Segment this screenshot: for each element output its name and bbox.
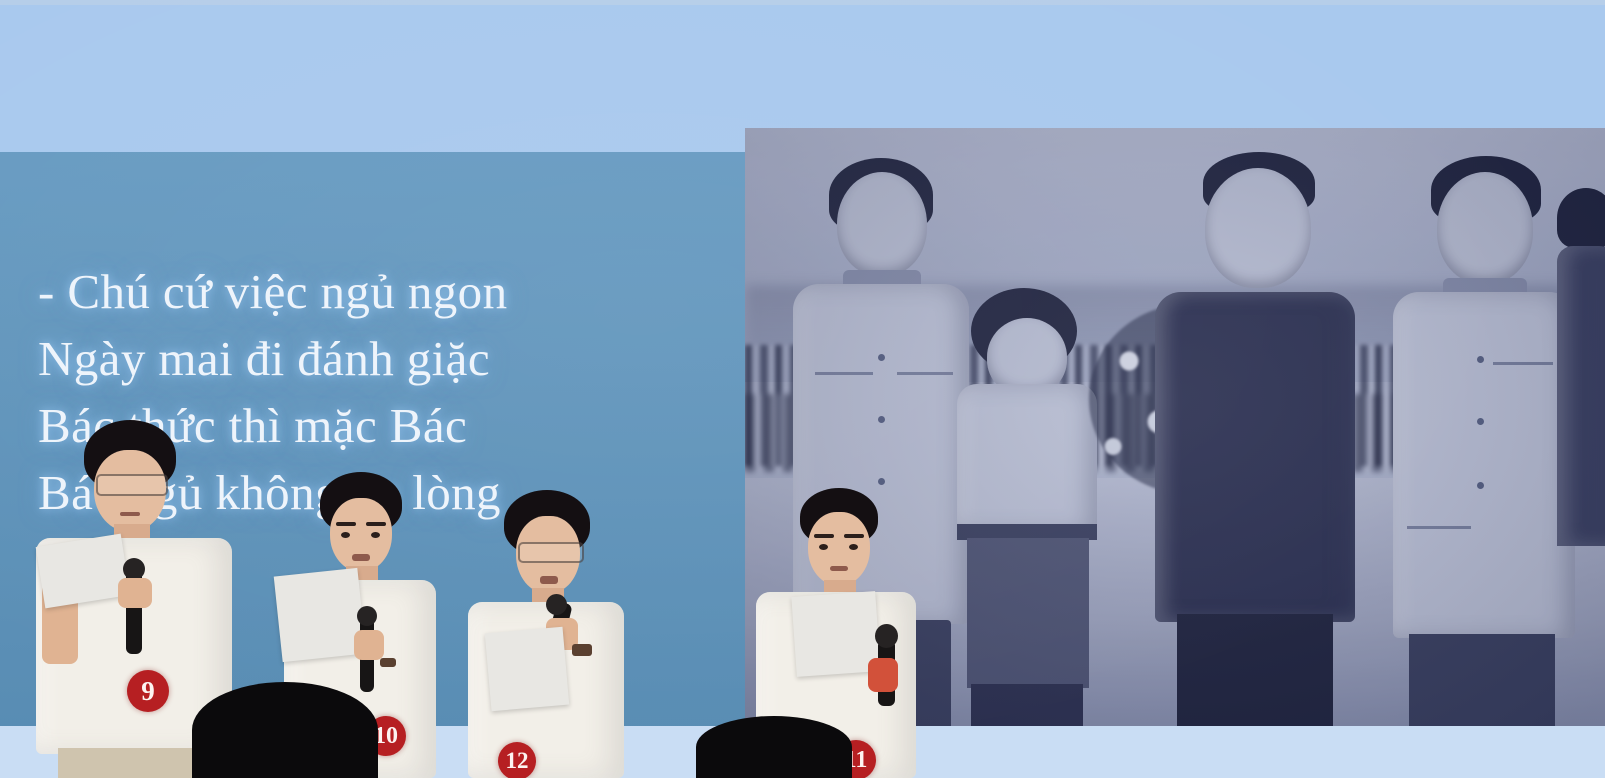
stage-scene: - Chú cứ việc ngủ ngon Ngày mai đi đánh … [0,0,1605,778]
poem-line-1: - Chú cứ việc ngủ ngon [38,258,738,325]
performer-10-eye-right [371,532,380,538]
performer-10-microphone-head [357,606,377,626]
performer-10-script [274,568,367,662]
screen-top-edge [0,0,1605,5]
performer-12-glasses [518,542,584,563]
performer-12-mouth [540,576,558,584]
performer-9-microphone-head [123,558,145,580]
performer-11-brow-left [814,534,834,538]
performer-9-number-badge: 9 [127,670,169,712]
performer-10-eye-left [341,532,350,538]
performer-10-hand-right [354,630,384,660]
performer-11-hand-right [868,658,898,692]
audience-head-center [696,716,852,778]
poem-line-2: Ngày mai đi đánh giặc [38,325,738,392]
performer-11-eye-right [849,544,858,550]
performer-12: 12 [454,484,634,778]
performer-10-wrist-band [380,658,396,667]
audience-head-left [192,682,378,778]
performer-9-hand-right [118,578,152,608]
performer-12-microphone-head [546,594,567,615]
performer-11-brow-right [844,534,864,538]
performer-12-watch [572,644,592,656]
performer-11-face [808,512,870,586]
performer-9-glasses [96,474,168,496]
performer-11-microphone-head [875,624,898,648]
performer-10-mouth [352,554,370,561]
performer-9-script [36,534,131,609]
performer-9-mouth [120,512,140,516]
performer-9-pants [58,748,208,778]
performer-12-number-badge: 12 [498,742,536,778]
performer-12-script [485,627,570,712]
performer-11-mouth [830,566,848,571]
performer-11-eye-left [819,544,828,550]
performer-10-brow-left [336,522,356,526]
performer-10-brow-right [366,522,386,526]
